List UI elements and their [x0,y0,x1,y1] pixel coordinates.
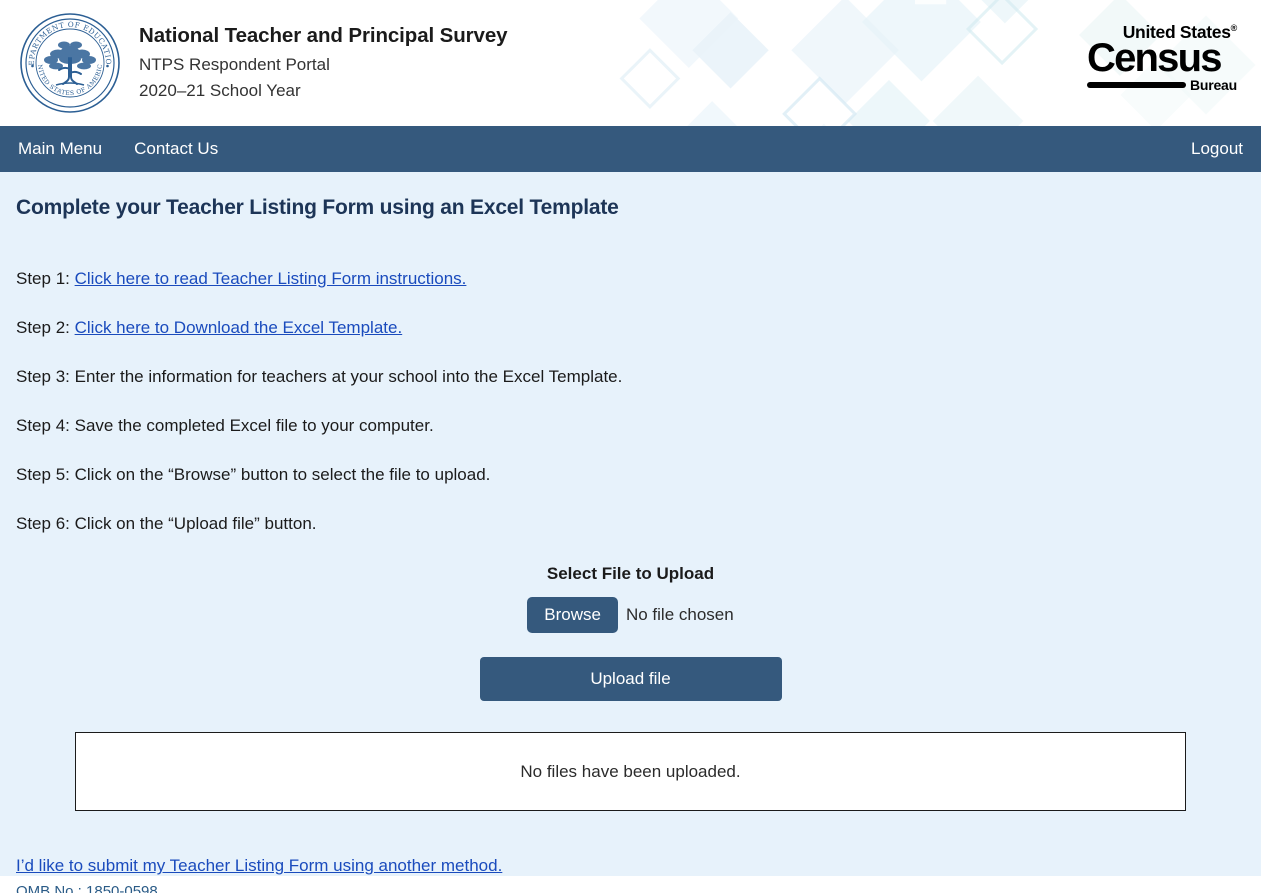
step-item-1: Step 1: Click here to read Teacher Listi… [16,268,1245,290]
uploaded-files-box: No files have been uploaded. [75,732,1186,811]
omb-number: OMB No.: 1850-0598 [16,880,161,893]
step-6-prefix: Step 6: [16,514,75,533]
site-subtitle: NTPS Respondent Portal [139,52,507,78]
alternate-submission-link[interactable]: I’d like to submit my Teacher Listing Fo… [16,856,502,876]
nav-right-group: Logout [1191,126,1243,172]
upload-file-button[interactable]: Upload file [480,657,782,701]
page-title: Complete your Teacher Listing Form using… [16,172,1245,220]
file-input-row: Browse No file chosen [16,597,1245,634]
step-item-3: Step 3: Enter the information for teache… [16,366,1245,388]
census-logo-bottom: Bureau [1087,77,1237,93]
uploaded-files-message: No files have been uploaded. [520,762,740,782]
step-3-prefix: Step 3: [16,367,75,386]
site-footer: OMB No.: 1850-0598 OMB Expiration Date: … [0,876,1261,893]
nav-left-group: Main Menu Contact Us [18,126,218,172]
main-navigation-bar: Main Menu Contact Us Logout [0,126,1261,172]
header-titles: National Teacher and Principal Survey NT… [139,23,507,104]
nav-main-menu[interactable]: Main Menu [18,126,102,172]
census-logo-rule [1087,82,1186,88]
site-title: National Teacher and Principal Survey [139,23,507,49]
main-content: Complete your Teacher Listing Form using… [0,172,1261,876]
census-bureau-logo: United States® Census Bureau [1087,24,1237,93]
site-header: DEPARTMENT OF EDUCATION UNITED STATES OF… [0,0,1261,126]
step-item-5: Step 5: Click on the “Browse” button to … [16,464,1245,486]
file-chosen-status: No file chosen [626,605,734,625]
registered-mark: ® [1231,23,1237,33]
step-1-prefix: Step 1: [16,269,75,288]
step-4-text: Save the completed Excel file to your co… [75,416,434,435]
step-item-4: Step 4: Save the completed Excel file to… [16,415,1245,437]
omb-info: OMB No.: 1850-0598 OMB Expiration Date: [16,880,161,893]
steps-list: Step 1: Click here to read Teacher Listi… [16,268,1245,536]
department-of-education-seal-icon: DEPARTMENT OF EDUCATION UNITED STATES OF… [18,11,122,115]
step-5-prefix: Step 5: [16,465,75,484]
step-item-2: Step 2: Click here to Download the Excel… [16,317,1245,339]
step-item-6: Step 6: Click on the “Upload file” butto… [16,513,1245,535]
step-4-prefix: Step 4: [16,416,75,435]
footer-links-group: Accessibility | Security [1075,880,1237,893]
census-logo-bureau-text: Bureau [1190,77,1237,93]
nav-logout[interactable]: Logout [1191,139,1243,158]
nav-contact-us[interactable]: Contact Us [134,126,218,172]
step-3-text: Enter the information for teachers at yo… [75,367,623,386]
download-template-link[interactable]: Click here to Download the Excel Templat… [75,318,403,337]
census-logo-wordmark: Census [1087,40,1237,77]
step-5-text: Click on the “Browse” button to select t… [75,465,491,484]
browse-button[interactable]: Browse [527,597,618,634]
file-upload-section: Select File to Upload Browse No file cho… [16,564,1245,702]
step-2-prefix: Step 2: [16,318,75,337]
school-year: 2020–21 School Year [139,78,507,104]
page-root: DEPARTMENT OF EDUCATION UNITED STATES OF… [0,0,1261,893]
step-6-text: Click on the “Upload file” button. [75,514,317,533]
instructions-link[interactable]: Click here to read Teacher Listing Form … [75,269,467,288]
select-file-label: Select File to Upload [16,564,1245,584]
